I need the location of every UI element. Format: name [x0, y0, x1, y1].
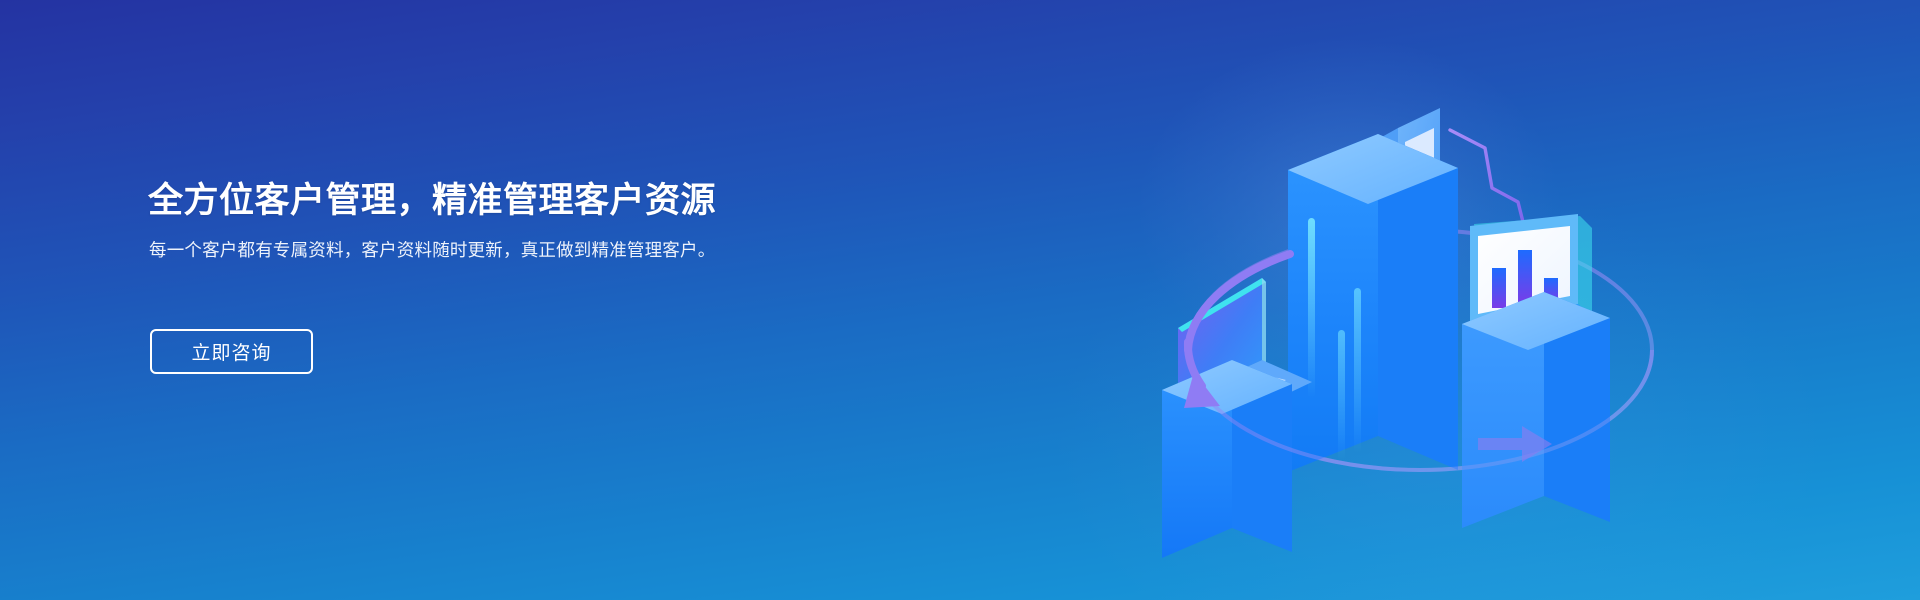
- hero-illustration: [1140, 30, 1700, 600]
- hero-subtitle: 每一个客户都有专属资料，客户资料随时更新，真正做到精准管理客户。: [149, 237, 749, 264]
- hero-copy-block: 全方位客户管理，精准管理客户资源 每一个客户都有专属资料，客户资料随时更新，真正…: [148, 0, 788, 600]
- hero-banner: 全方位客户管理，精准管理客户资源 每一个客户都有专属资料，客户资料随时更新，真正…: [0, 0, 1920, 600]
- page-title: 全方位客户管理，精准管理客户资源: [148, 172, 716, 223]
- right-pedestal: [1462, 214, 1610, 528]
- center-pedestal: [1288, 108, 1458, 472]
- consult-now-button[interactable]: 立即咨询: [150, 329, 313, 374]
